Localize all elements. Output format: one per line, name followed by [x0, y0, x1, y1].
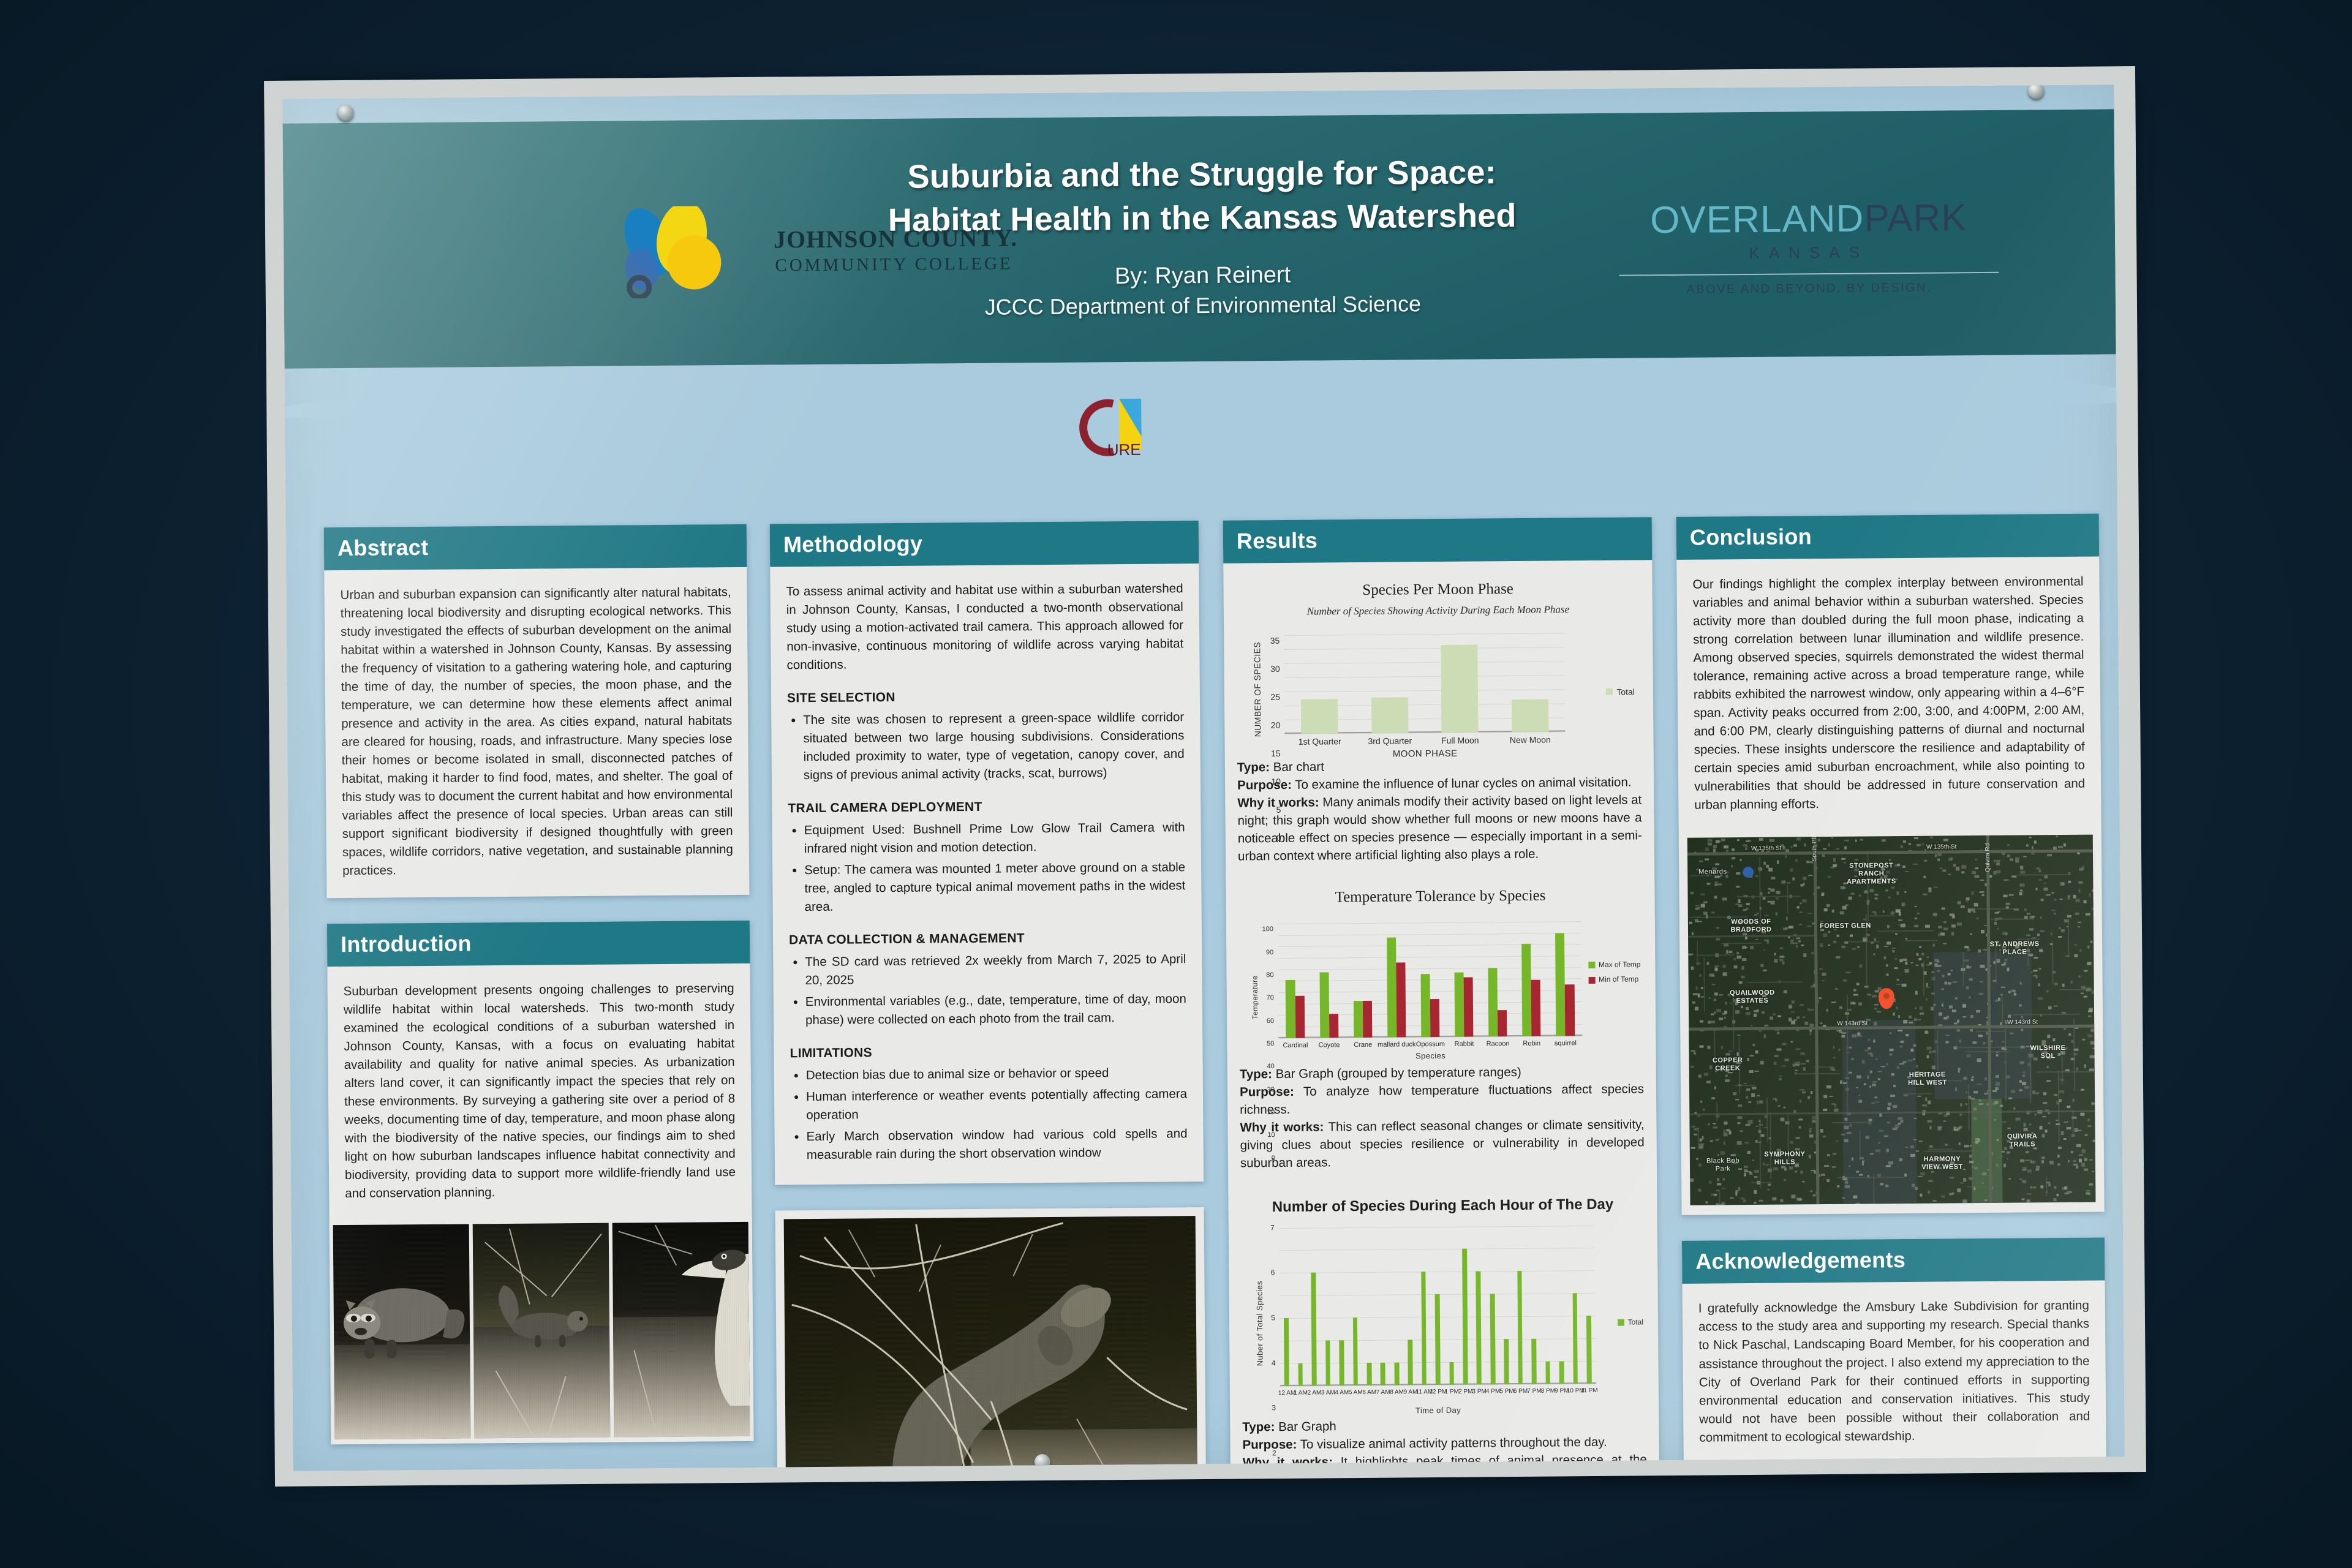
- research-poster: JOHNSON COUNTY. COMMUNITY COLLEGE Suburb…: [282, 85, 2125, 1471]
- grid-line: 80: [1278, 944, 1581, 948]
- poster-title-line1: Suburbia and the Struggle for Space:: [761, 149, 1643, 200]
- map-area-label: QUIVIRA TRAILS: [1995, 1133, 2050, 1149]
- map-building: [1896, 1006, 1898, 1010]
- map-building: [1792, 878, 1795, 881]
- x-axis-tick: squirrel: [1543, 1039, 1588, 1047]
- map-building: [1757, 1095, 1760, 1096]
- map-building: [1853, 994, 1858, 996]
- map-building: [2010, 1032, 2014, 1035]
- chart1-ylabel: NUMBER OF SPECIES: [1251, 641, 1264, 737]
- map-building: [1963, 1178, 1966, 1182]
- map-building: [2041, 1160, 2045, 1163]
- y-axis-tick: 25: [1270, 691, 1280, 704]
- chart3-type-label: Type:: [1242, 1420, 1275, 1434]
- map-building: [1851, 1158, 1853, 1161]
- map-building: [1705, 1201, 1708, 1203]
- map-building: [1822, 1174, 1825, 1175]
- map-building: [1790, 1140, 1793, 1144]
- overland-park-logo: OVERLANDPARK KANSAS ABOVE AND BEYOND. BY…: [1594, 195, 2024, 297]
- map-building: [1904, 1204, 1905, 1205]
- map-road-label: South Pflumm Rd: [1811, 835, 1818, 862]
- map-building: [1894, 958, 1897, 960]
- map-building: [1844, 839, 1849, 842]
- map-building: [1698, 1164, 1702, 1167]
- map-building: [1969, 1155, 1972, 1158]
- map-building: [2024, 1086, 2029, 1088]
- map-building: [1738, 1187, 1740, 1191]
- map-building: [1857, 946, 1860, 948]
- map-building: [2064, 1121, 2068, 1123]
- map-building: [1943, 1114, 1948, 1117]
- map-building: [1834, 1104, 1836, 1107]
- map-road-label: Quivira Rd: [1985, 843, 1991, 872]
- map-building: [1949, 1193, 1953, 1195]
- map-building: [1796, 937, 1800, 939]
- map-building: [2056, 835, 2057, 837]
- map-building: [1916, 952, 1918, 956]
- map-building: [1751, 1093, 1754, 1097]
- map-building: [1690, 1178, 1694, 1182]
- methodology-section-title: DATA COLLECTION & MANAGEMENT: [789, 928, 1186, 950]
- map-building: [1703, 901, 1707, 903]
- map-building: [2039, 869, 2041, 872]
- map-building: [1708, 842, 1711, 845]
- map-building: [1724, 1122, 1727, 1125]
- map-building: [1792, 1195, 1796, 1198]
- map-building: [1957, 922, 1962, 925]
- map-building: [2026, 845, 2028, 847]
- map-building: [1751, 1025, 1752, 1027]
- map-building: [1942, 975, 1945, 978]
- y-axis-tick: 4: [1272, 1358, 1276, 1369]
- map-building: [1770, 900, 1775, 904]
- map-building: [1920, 1006, 1922, 1010]
- map-building: [1712, 984, 1716, 986]
- map-building: [1870, 1153, 1874, 1155]
- bar: [1435, 1294, 1441, 1384]
- map-building: [1918, 1140, 1922, 1142]
- map-building: [1872, 1082, 1877, 1083]
- map-building: [1768, 892, 1770, 894]
- map-building: [1909, 843, 1911, 845]
- map-street: [1716, 1102, 1717, 1121]
- map-street: [1869, 916, 1894, 917]
- map-building: [1754, 1175, 1757, 1177]
- map-building: [2040, 916, 2042, 918]
- map-building: [2081, 1089, 2084, 1091]
- map-building: [1799, 924, 1802, 925]
- map-building: [1795, 1070, 1798, 1071]
- map-building: [2069, 1033, 2071, 1036]
- map-building: [1962, 1005, 1966, 1008]
- introduction-heading: Introduction: [327, 920, 750, 966]
- map-building: [1771, 889, 1775, 892]
- map-building: [1781, 1199, 1783, 1202]
- map-building: [1711, 911, 1715, 913]
- map-building: [1736, 952, 1739, 955]
- map-building: [2067, 1106, 2070, 1108]
- map-building: [1809, 1130, 1812, 1133]
- y-axis-tick: 15: [1271, 747, 1281, 759]
- map-building: [1798, 940, 1801, 942]
- map-street: [2068, 920, 2069, 957]
- map-building: [1972, 871, 1976, 873]
- map-building: [1749, 1101, 1752, 1104]
- column-conclusion-acknowledgements: Conclusion Our findings highlight the co…: [1676, 514, 2106, 1471]
- map-building: [2007, 845, 2010, 846]
- map-building: [2026, 935, 2030, 937]
- bar: [1363, 1001, 1373, 1038]
- map-building: [1901, 845, 1904, 848]
- map-building: [1852, 948, 1856, 950]
- map-building: [1910, 962, 1913, 964]
- map-building: [2084, 970, 2088, 971]
- map-road-label: W 143rd St: [1837, 1020, 1868, 1027]
- y-axis-tick: 3: [1272, 1403, 1276, 1414]
- map-building: [1828, 931, 1830, 932]
- trail-cam-photo-squirrel: [473, 1223, 611, 1439]
- map-building: [1928, 1120, 1932, 1122]
- map-building: [1925, 1098, 1927, 1101]
- map-street: [1735, 1085, 1755, 1086]
- map-building: [1724, 845, 1728, 848]
- op-logo-park: PARK: [1864, 197, 1967, 239]
- map-building: [1756, 1126, 1758, 1127]
- map-building: [1960, 1182, 1964, 1183]
- map-building: [2074, 944, 2077, 946]
- map-building: [1953, 981, 1958, 983]
- legend-label: Total: [1628, 1317, 1643, 1328]
- map-building: [1910, 1049, 1913, 1052]
- map-building: [1912, 1184, 1915, 1186]
- study-site-satellite-map: W 135th St W 135th St W 143rd St W 143rd…: [1687, 835, 2096, 1205]
- map-building: [1741, 967, 1744, 970]
- map-building: [1809, 1031, 1811, 1035]
- map-building: [1896, 909, 1901, 912]
- map-building: [1839, 911, 1844, 914]
- map-building: [1973, 903, 1978, 907]
- map-building: [1770, 839, 1774, 842]
- map-building: [1743, 909, 1747, 911]
- map-street: [2046, 1177, 2047, 1196]
- map-building: [1850, 934, 1853, 937]
- column-abstract-introduction: Abstract Urban and suburban expansion ca…: [324, 524, 754, 1470]
- map-building: [1957, 1021, 1959, 1023]
- map-building: [1974, 1167, 1978, 1170]
- map-building: [1905, 1147, 1908, 1148]
- map-street: [1697, 941, 1698, 966]
- map-building: [1856, 1087, 1858, 1088]
- chart1-xlabel: MOON PHASE: [1285, 746, 1566, 762]
- map-building: [2024, 1123, 2026, 1127]
- map-building: [1826, 904, 1830, 907]
- map-building: [1839, 1006, 1842, 1008]
- map-building: [1905, 962, 1907, 964]
- list-item: Environmental variables (e.g., date, tem…: [805, 990, 1186, 1030]
- map-building: [1795, 1049, 1800, 1050]
- map-building: [1942, 908, 1946, 910]
- map-building: [1964, 1145, 1969, 1147]
- map-building: [1887, 941, 1891, 945]
- map-building: [1757, 913, 1759, 914]
- map-building: [1983, 1042, 1986, 1044]
- map-building: [1741, 976, 1745, 978]
- bar: [1531, 1339, 1536, 1384]
- map-building: [2019, 982, 2022, 984]
- map-area-label: QUAILWOOD ESTATES: [1725, 989, 1779, 1005]
- map-building: [1904, 891, 1906, 894]
- map-building: [2054, 1005, 2058, 1007]
- map-building: [1892, 948, 1895, 949]
- map-building: [2007, 1128, 2010, 1129]
- map-street: [2072, 1110, 2073, 1137]
- chart1-purpose-value: To examine the influence of lunar cycles…: [1295, 775, 1631, 791]
- introduction-body: Suburban development presents ongoing ch…: [327, 963, 752, 1220]
- map-building: [2008, 1098, 2012, 1099]
- map-building: [1763, 862, 1766, 865]
- bar: [1476, 1272, 1482, 1384]
- map-building: [1775, 1098, 1777, 1101]
- map-building: [1889, 859, 1891, 861]
- map-building: [2041, 1156, 2045, 1159]
- map-building: [2056, 1120, 2058, 1121]
- map-building: [1931, 992, 1934, 994]
- map-building: [1875, 894, 1879, 895]
- grid-line: 25: [1284, 661, 1565, 664]
- map-building: [1733, 965, 1737, 968]
- map-building: [1776, 897, 1778, 899]
- map-building: [1858, 1032, 1860, 1035]
- map-building: [1904, 1095, 1908, 1096]
- map-building: [1931, 1171, 1934, 1172]
- map-building: [1966, 986, 1969, 990]
- map-building: [1903, 840, 1905, 843]
- map-building: [1833, 858, 1836, 862]
- map-building: [2021, 1198, 2024, 1200]
- map-building: [1875, 1058, 1878, 1060]
- conclusion-body: Our findings highlight the complex inter…: [1676, 557, 2101, 832]
- map-building: [2049, 1161, 2054, 1164]
- map-building: [1779, 1077, 1782, 1080]
- map-building: [1924, 1030, 1928, 1033]
- map-building: [1700, 904, 1705, 907]
- map-building: [2034, 970, 2038, 971]
- map-building: [1933, 1200, 1937, 1202]
- map-building: [1971, 1079, 1973, 1082]
- map-building: [1708, 1123, 1710, 1125]
- map-building: [2038, 879, 2041, 881]
- cure-logo-icon: URE: [1075, 393, 1210, 462]
- map-building: [1705, 858, 1709, 860]
- map-building: [1855, 1203, 1860, 1205]
- map-building: [1985, 1077, 1987, 1081]
- results-body: Species Per Moon Phase Number of Species…: [1223, 560, 1660, 1471]
- map-building: [1742, 958, 1746, 961]
- map-building: [1918, 958, 1921, 960]
- map-building: [1918, 1176, 1923, 1177]
- bar: [1420, 974, 1430, 1037]
- bar: [1488, 968, 1498, 1036]
- map-building: [1868, 1119, 1872, 1121]
- map-building: [2081, 1163, 2085, 1166]
- map-building: [2036, 1166, 2040, 1169]
- map-building: [2003, 1164, 2005, 1167]
- map-building: [2001, 1151, 2004, 1153]
- map-building: [1812, 1120, 1816, 1123]
- map-building: [1746, 1096, 1749, 1099]
- map-building: [1970, 1015, 1973, 1018]
- map-building: [1817, 839, 1820, 842]
- y-axis-tick: 0: [1272, 1153, 1275, 1163]
- list-item: The site was chosen to represent a green…: [803, 708, 1185, 785]
- map-building: [2026, 1151, 2029, 1153]
- map-building: [1980, 965, 1985, 968]
- map-building: [1803, 899, 1807, 902]
- map-building: [1789, 925, 1793, 929]
- map-building: [1931, 1007, 1934, 1011]
- map-building: [1713, 1126, 1718, 1128]
- map-building: [1920, 1172, 1924, 1175]
- map-building: [1789, 1005, 1792, 1008]
- list-item: Equipment Used: Bushnell Prime Low Glow …: [804, 818, 1185, 858]
- map-building: [2084, 1065, 2086, 1068]
- map-building: [2048, 1035, 2051, 1038]
- legend-entry: Min of Temp: [1588, 974, 1641, 986]
- map-building: [2037, 933, 2040, 936]
- map-building: [1719, 994, 1723, 995]
- map-building: [2085, 1134, 2088, 1136]
- map-building: [1905, 938, 1907, 940]
- map-building: [1907, 1060, 1912, 1061]
- map-building: [2022, 1169, 2026, 1170]
- map-building: [1700, 1020, 1703, 1023]
- map-building: [1929, 1051, 1932, 1054]
- bar: [1394, 1362, 1399, 1385]
- map-building: [1891, 1073, 1895, 1076]
- map-building: [1784, 1168, 1787, 1171]
- map-building: [2022, 1071, 2026, 1073]
- map-building: [1923, 1104, 1928, 1107]
- map-building: [2051, 892, 2054, 894]
- map-building: [1737, 1035, 1741, 1036]
- map-area-label: ST. ANDREWS PLACE: [1987, 941, 2042, 957]
- cure-logo: URE: [1075, 393, 1210, 462]
- map-building: [2035, 888, 2038, 890]
- map-building: [2079, 976, 2081, 978]
- chart2-ylabel: Temperature: [1250, 975, 1261, 1019]
- map-building: [1824, 1165, 1829, 1167]
- map-building: [2046, 990, 2048, 992]
- map-building: [2067, 896, 2070, 900]
- map-building: [1728, 1050, 1732, 1052]
- map-building: [2032, 846, 2034, 849]
- map-building: [1806, 861, 1809, 863]
- map-building: [2019, 1178, 2022, 1180]
- map-building: [1763, 949, 1765, 951]
- map-building: [2032, 1186, 2036, 1188]
- map-building: [1966, 901, 1969, 902]
- map-building: [1972, 1041, 1977, 1043]
- map-building: [1960, 905, 1964, 908]
- map-building: [1801, 944, 1804, 946]
- map-building: [1734, 958, 1736, 960]
- map-building: [1792, 1001, 1795, 1004]
- map-building: [1927, 1047, 1932, 1050]
- bar: [1559, 1361, 1564, 1384]
- map-building: [1728, 951, 1732, 953]
- map-building: [1879, 1130, 1883, 1131]
- map-building: [1746, 903, 1750, 905]
- map-building: [1740, 1130, 1743, 1132]
- map-building: [1807, 913, 1812, 914]
- grid-line: 7: [1279, 1226, 1595, 1229]
- map-building: [2036, 975, 2038, 978]
- map-building: [1806, 1060, 1809, 1062]
- map-building: [1746, 1012, 1751, 1015]
- map-building: [1893, 1085, 1896, 1087]
- map-building: [1714, 1194, 1717, 1196]
- map-building: [2044, 875, 2048, 878]
- op-logo-overland: OVERLAND: [1650, 198, 1864, 242]
- map-building: [1996, 1053, 1999, 1056]
- map-building: [1754, 914, 1757, 916]
- map-building: [1847, 1009, 1852, 1011]
- map-building: [1738, 904, 1743, 907]
- map-building: [1822, 973, 1826, 976]
- jccc-logo: JOHNSON COUNTY. COMMUNITY COLLEGE: [590, 203, 1019, 298]
- map-building: [1706, 883, 1710, 884]
- map-building: [1876, 944, 1879, 948]
- grid-line: 90: [1278, 933, 1581, 936]
- map-building: [1913, 863, 1918, 865]
- map-building: [1757, 1101, 1758, 1104]
- map-building: [1800, 1063, 1805, 1065]
- map-building: [1942, 988, 1944, 990]
- map-building: [1717, 876, 1721, 877]
- map-building: [1849, 1165, 1850, 1167]
- grid-line: 30: [1284, 647, 1564, 650]
- map-building: [1884, 946, 1889, 948]
- grid-line: 60: [1278, 967, 1581, 970]
- map-street: [2012, 1014, 2080, 1016]
- map-building: [1842, 906, 1847, 909]
- map-building: [1914, 1118, 1917, 1120]
- list-item: The SD card was retrieved 2x weekly from…: [805, 950, 1186, 990]
- methodology-card: Methodology To assess animal activity an…: [770, 521, 1204, 1185]
- map-building: [2003, 895, 2008, 897]
- map-building: [2015, 860, 2019, 863]
- map-building: [2057, 1163, 2060, 1166]
- map-building: [1831, 837, 1833, 839]
- map-building: [1737, 839, 1740, 841]
- map-street: [1770, 1112, 1772, 1178]
- map-building: [1714, 1012, 1716, 1014]
- map-building: [1940, 868, 1942, 869]
- map-building: [1858, 1099, 1863, 1103]
- map-building: [1880, 1183, 1883, 1185]
- map-building: [1979, 993, 1983, 995]
- map-building: [1879, 1142, 1880, 1144]
- legend-swatch: [1606, 688, 1613, 695]
- map-building: [1707, 962, 1709, 965]
- map-building: [2092, 889, 2095, 892]
- map-building: [1898, 1117, 1903, 1120]
- y-axis-tick: 2: [1272, 1448, 1276, 1459]
- map-building: [1931, 1066, 1935, 1069]
- map-building: [1895, 933, 1898, 935]
- map-building: [1959, 1114, 1962, 1115]
- chart3-type-value: Bar Graph: [1278, 1419, 1336, 1434]
